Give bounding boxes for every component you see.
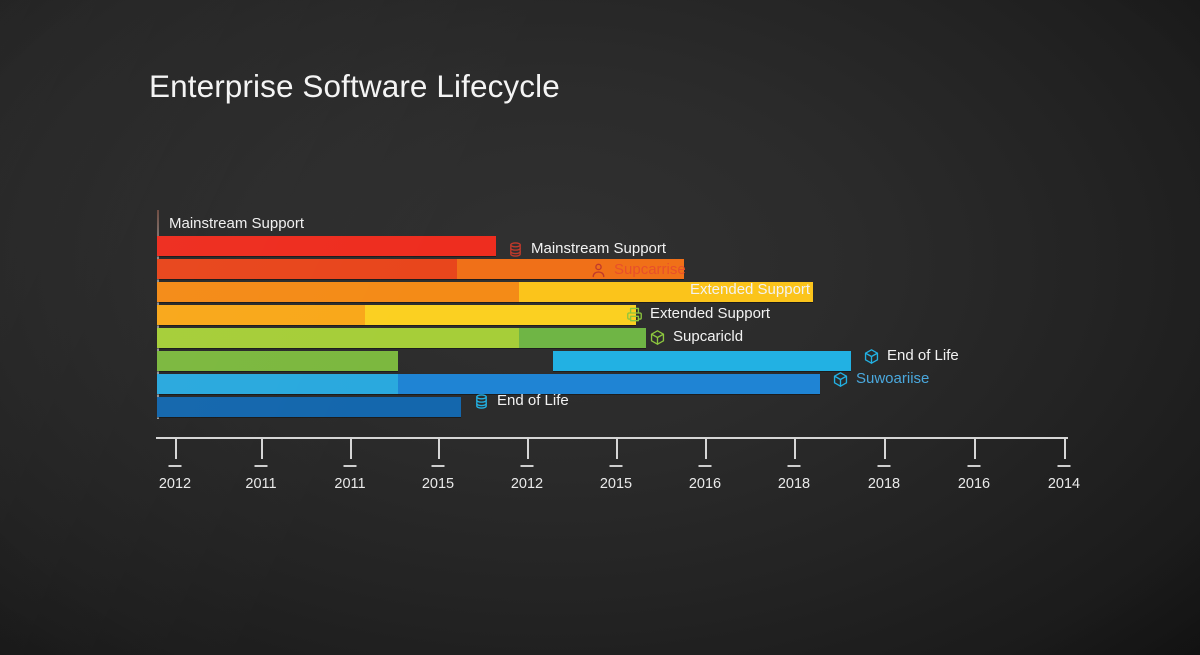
plot-area: Mainstream Support Mainstream Support Su… bbox=[0, 0, 1200, 655]
series-label[interactable]: End of Life bbox=[862, 347, 959, 365]
database-icon bbox=[472, 392, 490, 410]
cube-icon bbox=[862, 347, 880, 365]
x-axis-tick bbox=[616, 437, 618, 459]
x-axis-tick-dash bbox=[344, 465, 357, 467]
bar-segment[interactable] bbox=[398, 374, 820, 394]
x-axis-tick-label: 2016 bbox=[958, 476, 990, 492]
x-axis-tick-label: 2018 bbox=[868, 476, 900, 492]
series-label-text: End of Life bbox=[887, 348, 959, 364]
x-axis-tick-dash bbox=[255, 465, 268, 467]
x-axis-tick-label: 2011 bbox=[334, 476, 365, 492]
chart-canvas: Enterprise Software Lifecycle Mainstream… bbox=[0, 0, 1200, 655]
x-axis-tick-label: 2015 bbox=[600, 476, 632, 492]
x-axis-tick-dash bbox=[968, 465, 981, 467]
bar-segment[interactable] bbox=[157, 397, 461, 417]
series-label[interactable]: Supcaricld bbox=[648, 328, 743, 346]
x-axis-tick-label: 2011 bbox=[245, 476, 276, 492]
series-label[interactable]: Suwoariise bbox=[831, 370, 929, 388]
bar-segment[interactable] bbox=[157, 351, 398, 371]
x-axis-tick bbox=[884, 437, 886, 459]
bar-segment[interactable] bbox=[157, 259, 457, 279]
bar-segment[interactable] bbox=[157, 328, 519, 348]
series-label-text: Mainstream Support bbox=[531, 241, 666, 257]
bar-segment[interactable] bbox=[157, 282, 519, 302]
x-axis-line bbox=[156, 437, 1068, 439]
x-axis-tick-label: 2014 bbox=[1048, 476, 1080, 492]
x-axis-tick-dash bbox=[610, 465, 623, 467]
series-label-text: Supcarrise bbox=[614, 262, 686, 278]
series-label-text: Supcaricld bbox=[673, 329, 743, 345]
x-axis-tick bbox=[1064, 437, 1066, 459]
bar-segment[interactable] bbox=[157, 374, 398, 394]
series-label[interactable]: Supcarrise bbox=[589, 261, 686, 279]
series-label[interactable]: End of Life bbox=[472, 392, 569, 410]
x-axis-tick-label: 2012 bbox=[511, 476, 543, 492]
series-label-text: Extended Support bbox=[690, 282, 810, 298]
x-axis-tick bbox=[350, 437, 352, 459]
axis-start-label: Mainstream Support bbox=[169, 215, 304, 232]
x-axis-tick-dash bbox=[699, 465, 712, 467]
x-axis-tick-dash bbox=[432, 465, 445, 467]
x-axis-tick bbox=[705, 437, 707, 459]
series-label[interactable]: Extended Support bbox=[625, 305, 770, 323]
x-axis-tick bbox=[175, 437, 177, 459]
x-axis-tick-label: 2015 bbox=[422, 476, 454, 492]
x-axis-tick-dash bbox=[521, 465, 534, 467]
series-label-text: Suwoariise bbox=[856, 371, 929, 387]
x-axis-tick-dash bbox=[788, 465, 801, 467]
series-label[interactable]: Mainstream Support bbox=[506, 240, 666, 258]
x-axis-tick-dash bbox=[169, 465, 182, 467]
bar-segment[interactable] bbox=[553, 351, 851, 371]
x-axis-tick-label: 2012 bbox=[159, 476, 191, 492]
series-label[interactable]: Extended Support bbox=[690, 282, 810, 298]
bar-segment[interactable] bbox=[157, 305, 365, 325]
x-axis-tick-label: 2018 bbox=[778, 476, 810, 492]
series-label-text: Extended Support bbox=[650, 306, 770, 322]
x-axis-tick-dash bbox=[1058, 465, 1071, 467]
x-axis-tick bbox=[974, 437, 976, 459]
bar-segment[interactable] bbox=[519, 328, 646, 348]
bar-segment[interactable] bbox=[157, 236, 496, 256]
x-axis-tick bbox=[794, 437, 796, 459]
x-axis-tick-label: 2016 bbox=[689, 476, 721, 492]
x-axis-tick bbox=[261, 437, 263, 459]
cube-icon bbox=[648, 328, 666, 346]
x-axis-tick bbox=[527, 437, 529, 459]
printer-icon bbox=[625, 305, 643, 323]
cube-icon bbox=[831, 370, 849, 388]
series-label-text: End of Life bbox=[497, 393, 569, 409]
user-icon bbox=[589, 261, 607, 279]
x-axis-tick-dash bbox=[878, 465, 891, 467]
bar-segment[interactable] bbox=[365, 305, 636, 325]
x-axis-tick bbox=[438, 437, 440, 459]
database-icon bbox=[506, 240, 524, 258]
